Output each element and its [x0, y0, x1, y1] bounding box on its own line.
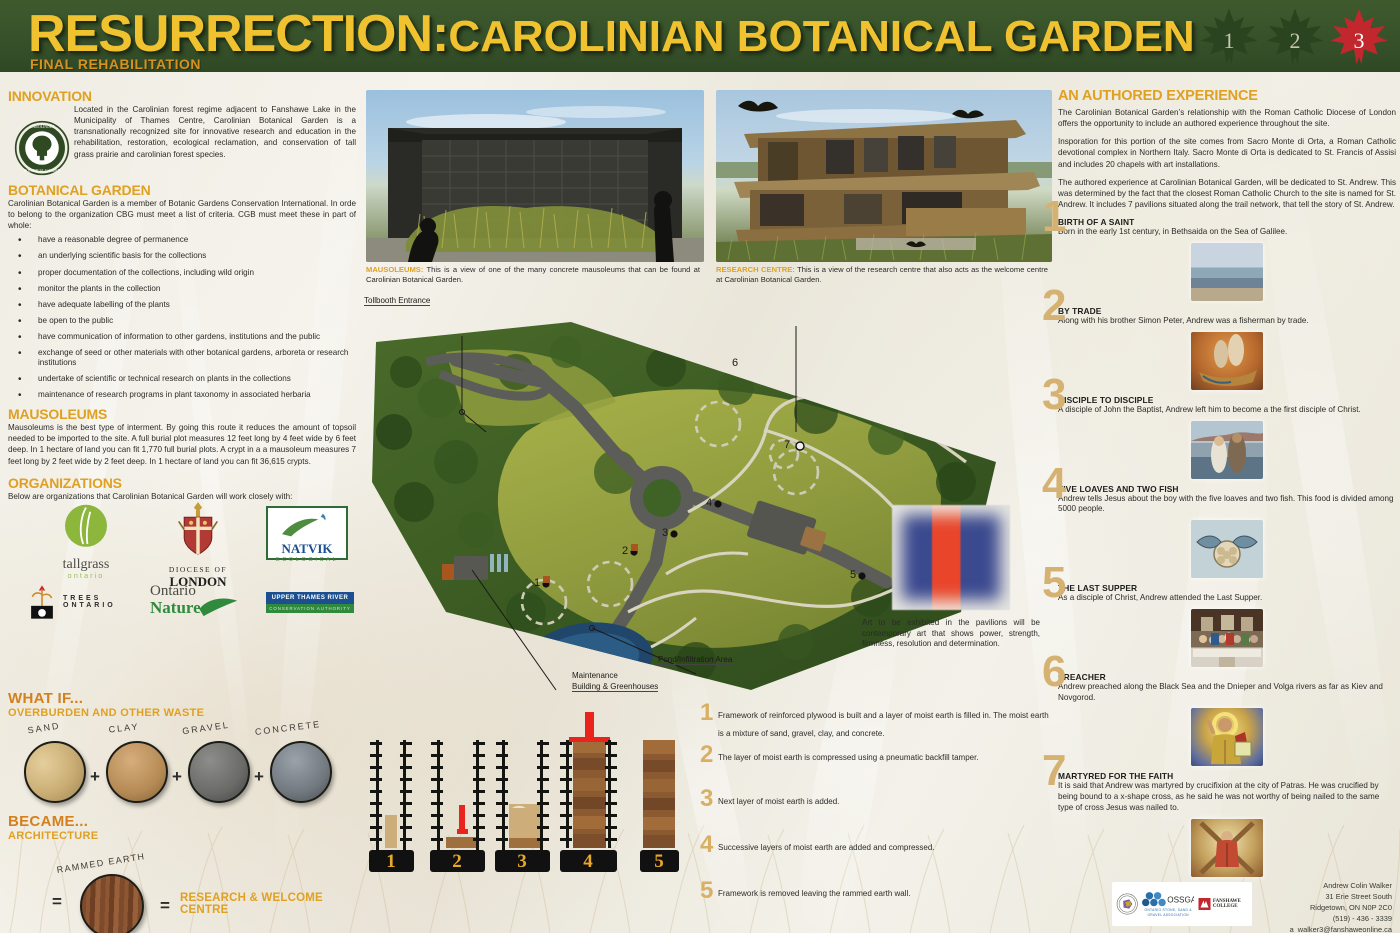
story-text: As a disciple of Christ, Andrew attended… — [1058, 593, 1396, 604]
plus-operator: + — [254, 767, 264, 787]
story-number: 5 — [1042, 561, 1066, 605]
what-if-heading: WHAT IF... — [8, 690, 356, 707]
loaves-and-fishes-mosaic — [1191, 520, 1263, 578]
page-subtitle: FINAL REHABILITATION — [30, 56, 201, 72]
mausoleum-render — [366, 90, 704, 262]
what-if-subheading: OVERBURDEN AND OTHER WASTE — [8, 707, 356, 719]
step-text: Framework is removed leaving the rammed … — [718, 889, 911, 898]
story-item-6: 6 PREACHER Andrew preached along the Bla… — [1058, 672, 1396, 704]
map-label-tollbooth: Tollbooth Entrance — [364, 296, 430, 306]
material-swatch-concrete — [270, 741, 332, 803]
rammed-earth-stage-5 — [643, 740, 675, 848]
step-item: 3 Next layer of moist earth is added. — [700, 791, 1050, 837]
material-label-gravel: GRAVEL — [166, 717, 247, 738]
step-number: 5 — [700, 879, 713, 903]
list-item: have adequate labelling of the plants — [8, 300, 356, 311]
contact-email: a_walker3@fanshaweonline.ca — [1212, 924, 1392, 933]
step-text: Successive layers of moist earth are add… — [718, 843, 935, 852]
authored-paragraph: The authored experience at Carolinian Bo… — [1058, 177, 1396, 210]
saint-andrew-icon — [1191, 708, 1263, 766]
story-title: DISCIPLE TO DISCIPLE — [1058, 395, 1396, 405]
contact-phone: (519) - 436 - 3339 — [1212, 913, 1392, 924]
diocese-of-london-logo: DIOCESE OF LONDON — [148, 498, 248, 590]
story-title: FIVE LOAVES AND TWO FISH — [1058, 484, 1396, 494]
story-text: A disciple of John the Baptist, Andrew l… — [1058, 405, 1396, 416]
authored-paragraph: The Carolinian Botanical Garden’s relati… — [1058, 107, 1396, 129]
result-label: RESEARCH & WELCOME CENTRE — [180, 892, 356, 916]
fishermen-boat-painting — [1191, 332, 1263, 390]
step-number: 3 — [700, 787, 713, 811]
cbg-seal-icon: CAROLINIAN BOTANICAL GARDEN — [14, 120, 70, 176]
organization-logos: tallgrass ontario DIOCESE OF LONDON NATV… — [8, 488, 356, 628]
step-text: Next layer of moist earth is added. — [718, 797, 839, 806]
botanical-garden-body: Carolinian Botanical Garden is a member … — [8, 198, 356, 231]
equals-operator: = — [160, 896, 170, 916]
mausoleum-caption: MAUSOLEUMS: This is a view of one of the… — [366, 265, 700, 285]
material-label-rammed-earth: RAMMED EARTH — [36, 848, 166, 878]
caption-label: RESEARCH CENTRE: — [716, 265, 795, 274]
mausoleums-body: Mausoleums is the best type of interment… — [8, 422, 356, 467]
story-number: 2 — [1042, 284, 1066, 328]
rammed-earth-steps: 1 Framework of reinforced plywood is bui… — [700, 705, 1050, 901]
leaf-swoosh-icon — [198, 596, 240, 618]
rammed-earth-stage-4 — [560, 712, 617, 848]
right-column: AN AUTHORED EXPERIENCE The Carolinian Bo… — [1058, 88, 1396, 882]
became-row: = RAMMED EARTH = RESEARCH & WELCOME CENT… — [8, 852, 356, 933]
step-number: 1 — [700, 701, 713, 725]
step-number: 2 — [700, 743, 713, 767]
story-text: Andrew preached along the Black Sea and … — [1058, 682, 1396, 704]
contact-city: Ridgetown, ON N0P 2C0 — [1212, 902, 1392, 913]
baptism-painting — [1191, 421, 1263, 479]
list-item: have a reasonable degree of permanence — [8, 235, 356, 246]
story-number: 6 — [1042, 650, 1066, 694]
logo-text: DIOCESE OF — [148, 565, 248, 574]
map-label-pond: Pond/Infiltration Area — [658, 655, 732, 665]
story-text: Along with his brother Simon Peter, Andr… — [1058, 316, 1396, 327]
contact-block: Andrew Colin Walker 31 Erie Street South… — [1212, 880, 1392, 933]
caption-label: MAUSOLEUMS: — [366, 265, 423, 274]
svg-text:BOTANICAL GARDEN: BOTANICAL GARDEN — [24, 169, 61, 173]
material-label-clay: CLAY — [84, 719, 165, 737]
story-text: Born in the early 1st century, in Bethsa… — [1058, 227, 1396, 238]
svg-text:7: 7 — [784, 439, 790, 451]
poster-canvas: RESURRECTION:CAROLINIAN BOTANICAL GARDEN… — [0, 0, 1400, 933]
stage-number: 1 — [386, 851, 396, 872]
page-indicator-1[interactable]: 1 — [1196, 6, 1262, 68]
innovation-body: Located in the Carolinian forest regime … — [74, 104, 356, 160]
story-item-3: 3 DISCIPLE TO DISCIPLE A disciple of Joh… — [1058, 395, 1396, 416]
story-item-7: 7 MARTYRED FOR THE FAITH It is said that… — [1058, 771, 1396, 813]
became-heading: BECAME... — [8, 813, 356, 830]
svg-text:CAROLINIAN: CAROLINIAN — [30, 125, 54, 129]
rammed-earth-stage-3 — [496, 740, 549, 850]
story-title: MARTYRED FOR THE FAITH — [1058, 771, 1396, 781]
plus-operator: + — [172, 767, 182, 787]
story-text: Andrew tells Jesus about the boy with th… — [1058, 494, 1396, 516]
trees-ontario-logo: TREES ONTARIO — [26, 584, 146, 620]
contact-name: Andrew Colin Walker — [1212, 880, 1392, 891]
material-swatch-sand — [24, 741, 86, 803]
svg-text:3: 3 — [662, 527, 668, 539]
story-item-2: 2 BY TRADE Along with his brother Simon … — [1058, 306, 1396, 327]
innovation-heading: INNOVATION — [8, 88, 356, 104]
fanshawe-mark-icon — [1198, 894, 1211, 914]
stage-number: 3 — [517, 851, 527, 872]
list-item: an underlying scientific basis for the c… — [8, 251, 356, 262]
step-item: 5 Framework is removed leaving the ramme… — [700, 883, 1050, 901]
rammed-earth-stage-1 — [370, 740, 412, 850]
research-centre-caption: RESEARCH CENTRE: This is a view of the r… — [716, 265, 1048, 285]
page-indicator-3-active[interactable]: 3 — [1326, 6, 1392, 68]
ossga-logo: OSSGA ONTARIO STONE, SAND & GRAVEL ASSOC… — [1138, 891, 1197, 916]
material-swatch-clay — [106, 741, 168, 803]
ossga-subtext: ONTARIO STONE, SAND & GRAVEL ASSOCIATION — [1138, 908, 1197, 916]
map-label-maintenance-line2: Building & Greenhouses — [572, 682, 658, 692]
logo-subtext: ECOLOGICAL — [268, 557, 346, 563]
art-swatch — [892, 505, 1010, 610]
authored-paragraph: Insporation for this portion of the site… — [1058, 136, 1396, 169]
step-item: 1 Framework of reinforced plywood is bui… — [700, 705, 1050, 747]
svg-text:5: 5 — [850, 569, 856, 581]
sea-of-galilee-photo — [1191, 243, 1263, 301]
art-note-text: Art to be exhibited in the pavilions wil… — [862, 618, 1040, 650]
svg-text:4: 4 — [706, 497, 712, 509]
stage-number: 2 — [452, 851, 462, 872]
research-centre-render — [716, 90, 1052, 262]
story-title: BY TRADE — [1058, 306, 1396, 316]
material-swatch-gravel — [188, 741, 250, 803]
natvik-grass-bird-icon — [268, 508, 346, 542]
stage-number: 5 — [654, 851, 664, 872]
svg-text:6: 6 — [732, 357, 738, 369]
story-number: 1 — [1042, 195, 1066, 239]
svg-text:2: 2 — [622, 545, 628, 557]
criteria-list: have a reasonable degree of permanence a… — [8, 235, 356, 400]
story-title: THE LAST SUPPER — [1058, 583, 1396, 593]
crucifixion-of-andrew-painting — [1191, 819, 1263, 877]
logo-subtext: Nature — [150, 598, 201, 617]
list-item: be open to the public — [8, 316, 356, 327]
ontario-nature-logo: Ontario Nature — [150, 584, 260, 618]
stage-number: 4 — [583, 851, 593, 872]
logo-subtext: CONSERVATION AUTHORITY — [266, 604, 354, 613]
story-item-1: 1 BIRTH OF A SAINT Born in the early 1st… — [1058, 217, 1396, 238]
step-item: 2 The layer of moist earth is compressed… — [700, 747, 1050, 791]
map-label-maintenance-line1: Maintenance — [572, 671, 618, 680]
page-number: 1 — [1196, 28, 1262, 54]
plus-operator: + — [90, 767, 100, 787]
diocese-crest-icon — [170, 498, 226, 560]
upper-thames-river-logo: UPPER THAMES RIVER CONSERVATION AUTHORIT… — [266, 592, 354, 613]
poster-header: RESURRECTION:CAROLINIAN BOTANICAL GARDEN… — [0, 0, 1400, 72]
list-item: monitor the plants in the collection — [8, 284, 356, 295]
logo-subtext: ontario — [38, 571, 134, 580]
botanical-garden-heading: BOTANICAL GARDEN — [8, 182, 356, 198]
equals-operator: = — [52, 892, 62, 912]
story-item-4: 4 FIVE LOAVES AND TWO FISH Andrew tells … — [1058, 484, 1396, 516]
materials-row: SAND + CLAY + GRAVEL + CONCRETE — [8, 723, 356, 807]
authored-experience-heading: AN AUTHORED EXPERIENCE — [1058, 88, 1396, 104]
material-swatch-rammed-earth — [80, 874, 144, 933]
contact-street: 31 Erie Street South — [1212, 891, 1392, 902]
rammed-earth-diagram: 1 2 3 4 5 — [366, 700, 696, 930]
step-item: 4 Successive layers of moist earth are a… — [700, 837, 1050, 883]
tallgrass-ontario-logo: tallgrass ontario — [38, 502, 134, 580]
rammed-earth-stage-2 — [431, 740, 485, 850]
story-title: BIRTH OF A SAINT — [1058, 217, 1396, 227]
story-number: 7 — [1042, 749, 1066, 793]
page-number: 2 — [1262, 28, 1328, 54]
list-item: maintenance of research programs in plan… — [8, 390, 356, 401]
material-label-concrete: CONCRETE — [248, 718, 329, 738]
became-subheading: ARCHITECTURE — [8, 830, 356, 842]
logo-subtext: ONTARIO — [63, 602, 116, 609]
left-column: INNOVATION CAROLINIAN BOTANICAL GARDEN L… — [8, 88, 356, 502]
logo-text: TREES — [63, 595, 116, 602]
svg-text:OSSGA: OSSGA — [1167, 896, 1194, 905]
page-indicator-2[interactable]: 2 — [1262, 6, 1328, 68]
tallgrass-mark-icon — [51, 502, 121, 558]
ossga-mark-icon: OSSGA — [1142, 891, 1194, 908]
last-supper-painting — [1191, 609, 1263, 667]
story-text: It is said that Andrew was martyred by c… — [1058, 781, 1396, 813]
list-item: exchange of seed or other materials with… — [8, 348, 356, 369]
material-label-sand: SAND — [4, 717, 85, 739]
story-number: 4 — [1042, 462, 1066, 506]
natvik-ecological-logo: NATVIK ECOLOGICAL — [266, 506, 348, 560]
trees-ontario-mark-icon — [26, 584, 58, 620]
step-text: Framework of reinforced plywood is built… — [718, 711, 1049, 738]
page-title: RESURRECTION:CAROLINIAN BOTANICAL GARDEN — [28, 4, 1195, 64]
mausoleums-heading: MAUSOLEUMS — [8, 406, 356, 422]
what-if-section: WHAT IF... OVERBURDEN AND OTHER WASTE SA… — [8, 690, 356, 933]
logo-text: UPPER THAMES RIVER — [266, 592, 354, 604]
list-item: undertake of scientific or technical res… — [8, 374, 356, 385]
story-title: PREACHER — [1058, 672, 1396, 682]
logo-text: NATVIK — [268, 541, 346, 557]
step-number: 4 — [700, 833, 713, 857]
art-note: Art to be exhibited in the pavilions wil… — [862, 505, 1040, 650]
toarc-logo — [1116, 887, 1138, 921]
list-item: have communication of information to oth… — [8, 332, 356, 343]
story-number: 3 — [1042, 373, 1066, 417]
list-item: proper documentation of the collections,… — [8, 268, 356, 279]
page-number: 3 — [1326, 28, 1392, 54]
story-item-5: 5 THE LAST SUPPER As a disciple of Chris… — [1058, 583, 1396, 604]
step-text: The layer of moist earth is compressed u… — [718, 753, 979, 762]
svg-text:1: 1 — [534, 577, 540, 589]
